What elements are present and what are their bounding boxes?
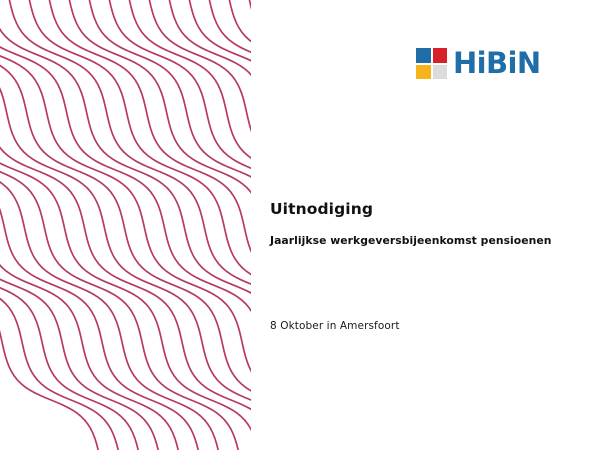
slide-title: Uitnodiging (270, 200, 570, 219)
wave-pattern-band (0, 0, 251, 450)
hibin-logo: HiBiN (416, 48, 541, 79)
logo-square-bottom-left (416, 65, 431, 80)
wave-line (81, 0, 251, 450)
logo-square-top-left (416, 48, 431, 63)
wave-line (0, 0, 251, 450)
wave-line (0, 0, 251, 450)
wave-line (161, 0, 251, 450)
wave-line (0, 0, 231, 450)
logo-square-grid-icon (416, 48, 447, 79)
logo-square-top-right (433, 48, 448, 63)
slide-subtitle: Jaarlijkse werkgeversbijeenkomst pensioe… (270, 234, 570, 248)
wave-line (0, 0, 251, 450)
wave-line (0, 0, 251, 450)
wave-line (21, 0, 251, 450)
logo-square-bottom-right (433, 65, 448, 80)
wave-line (0, 0, 251, 450)
wave-line (221, 0, 251, 450)
wave-line (0, 0, 251, 450)
wave-line (0, 0, 251, 450)
wave-line (0, 0, 251, 450)
wave-line (0, 0, 251, 450)
presentation-slide: HiBiN Uitnodiging Jaarlijkse werkgeversb… (0, 0, 600, 450)
wave-line (141, 0, 251, 450)
wave-line (0, 0, 251, 450)
wave-line (0, 0, 251, 450)
logo-wordmark: HiBiN (453, 49, 541, 78)
slide-text-block: Uitnodiging Jaarlijkse werkgeversbijeenk… (270, 200, 570, 333)
wave-line (0, 0, 251, 450)
slide-date-location: 8 Oktober in Amersfoort (270, 320, 570, 334)
wave-line (0, 0, 251, 450)
wave-line (0, 0, 251, 450)
wave-line (1, 0, 251, 450)
wave-line (0, 0, 251, 450)
wave-line (0, 0, 251, 450)
wavy-lines-graphic (0, 0, 251, 450)
wave-line (0, 0, 251, 450)
wave-line (0, 0, 251, 450)
